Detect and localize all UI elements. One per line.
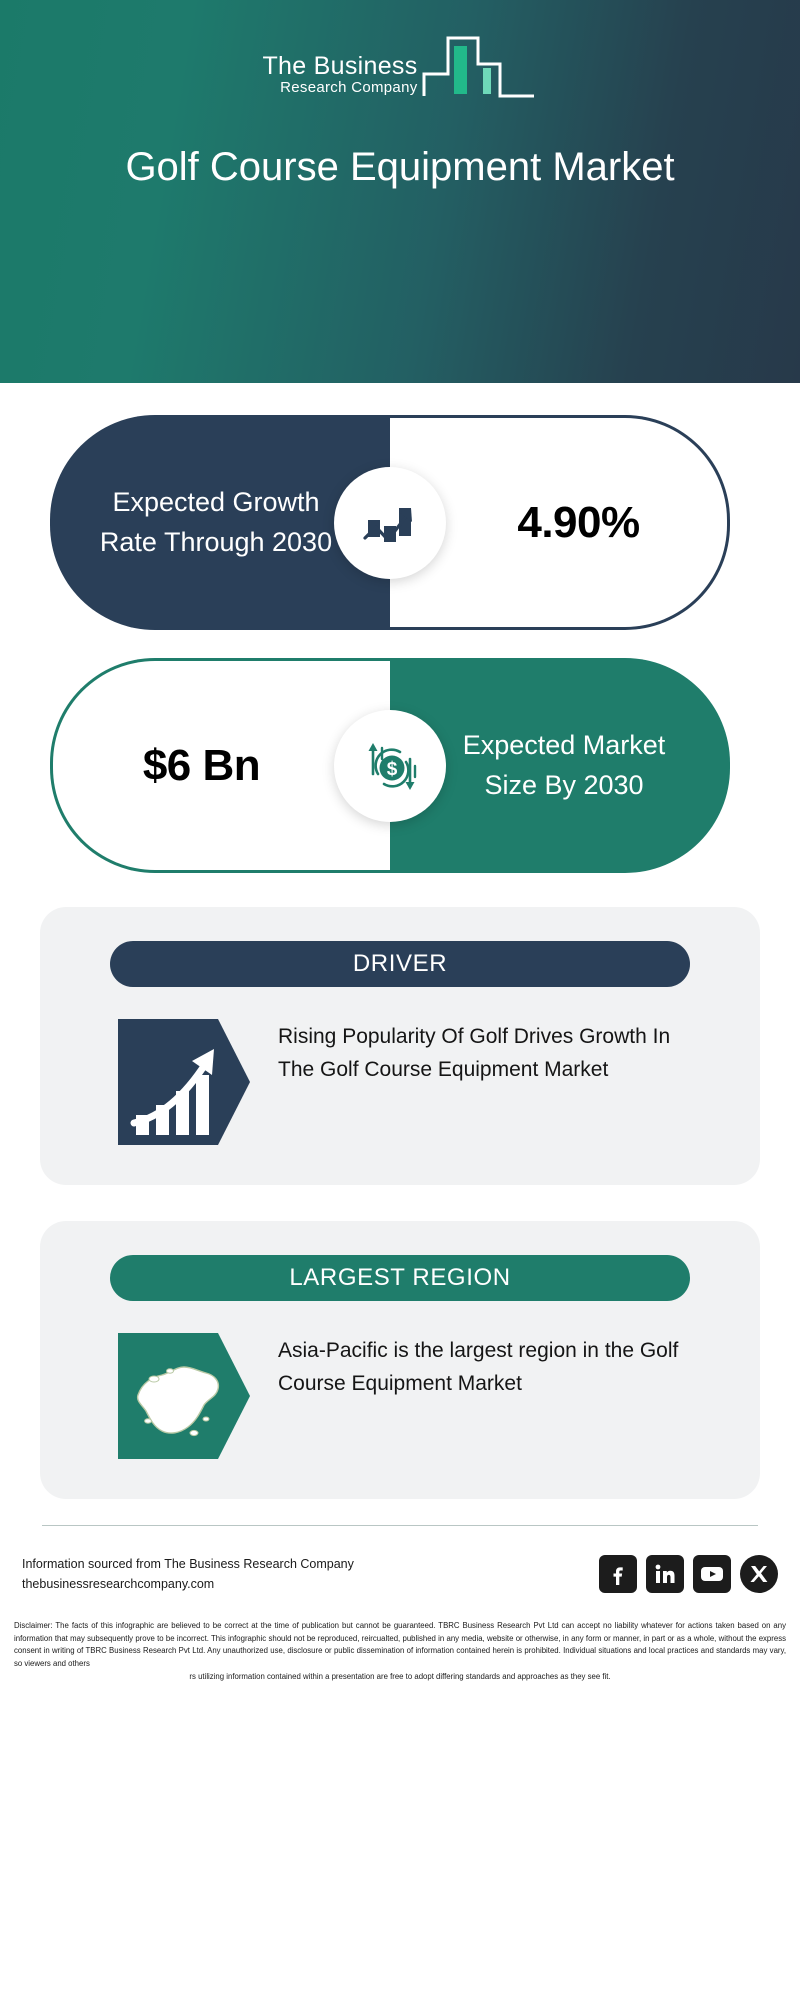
largest-region-panel: LARGEST REGION Asia-Pacific is the large… bbox=[40, 1221, 760, 1499]
driver-pill: DRIVER bbox=[110, 941, 690, 987]
header-banner: The Business Research Company Golf Cours… bbox=[0, 0, 800, 383]
source-line-2[interactable]: thebusinessresearchcompany.com bbox=[22, 1574, 354, 1594]
x-twitter-icon[interactable] bbox=[740, 1555, 778, 1593]
stat-card-growth-rate: Expected Growth Rate Through 2030 4.90% bbox=[40, 415, 760, 630]
logo-bars-icon bbox=[420, 28, 538, 105]
largest-region-pill: LARGEST REGION bbox=[110, 1255, 690, 1301]
svg-text:$: $ bbox=[387, 759, 398, 780]
linkedin-icon[interactable] bbox=[646, 1555, 684, 1593]
asia-pacific-map-icon bbox=[118, 1333, 250, 1459]
driver-body: Rising Popularity Of Golf Drives Growth … bbox=[40, 1019, 760, 1145]
largest-region-body: Asia-Pacific is the largest region in th… bbox=[40, 1333, 760, 1459]
growth-chart-icon bbox=[334, 467, 446, 579]
growth-rate-value: 4.90% bbox=[477, 498, 639, 548]
footer: Information sourced from The Business Re… bbox=[0, 1499, 800, 1693]
stat-cards: Expected Growth Rate Through 2030 4.90% … bbox=[0, 415, 800, 873]
logo-line-1: The Business bbox=[262, 53, 417, 79]
disclaimer-text-last: rs utilizing information contained withi… bbox=[14, 1671, 786, 1684]
dollar-circulation-icon: $ bbox=[334, 710, 446, 822]
stat-card-market-size: $6 Bn Expected Market Size By 2030 $ bbox=[40, 658, 760, 873]
driver-pill-label: DRIVER bbox=[353, 950, 447, 978]
source-line-1: Information sourced from The Business Re… bbox=[22, 1554, 354, 1574]
source-info: Information sourced from The Business Re… bbox=[22, 1554, 354, 1594]
market-size-value: $6 Bn bbox=[143, 741, 300, 791]
infographic-page: The Business Research Company Golf Cours… bbox=[0, 0, 800, 2000]
page-title: Golf Course Equipment Market bbox=[60, 142, 740, 193]
driver-panel: DRIVER Rising Popularity Of Golf Drives … bbox=[40, 907, 760, 1185]
footer-main: Information sourced from The Business Re… bbox=[0, 1540, 800, 1608]
largest-region-pill-label: LARGEST REGION bbox=[289, 1264, 510, 1292]
facebook-icon[interactable] bbox=[599, 1555, 637, 1593]
social-links bbox=[599, 1555, 778, 1593]
youtube-icon[interactable] bbox=[693, 1555, 731, 1593]
disclaimer-block: Disclaimer: The facts of this infographi… bbox=[0, 1608, 800, 1693]
disclaimer-text: Disclaimer: The facts of this infographi… bbox=[14, 1621, 786, 1668]
logo-line-2: Research Company bbox=[280, 79, 417, 97]
largest-region-text: Asia-Pacific is the largest region in th… bbox=[278, 1333, 710, 1400]
brand-logo: The Business Research Company bbox=[0, 28, 800, 105]
driver-text: Rising Popularity Of Golf Drives Growth … bbox=[278, 1019, 710, 1086]
bar-chart-growth-icon bbox=[118, 1019, 250, 1145]
footer-divider bbox=[42, 1525, 758, 1526]
